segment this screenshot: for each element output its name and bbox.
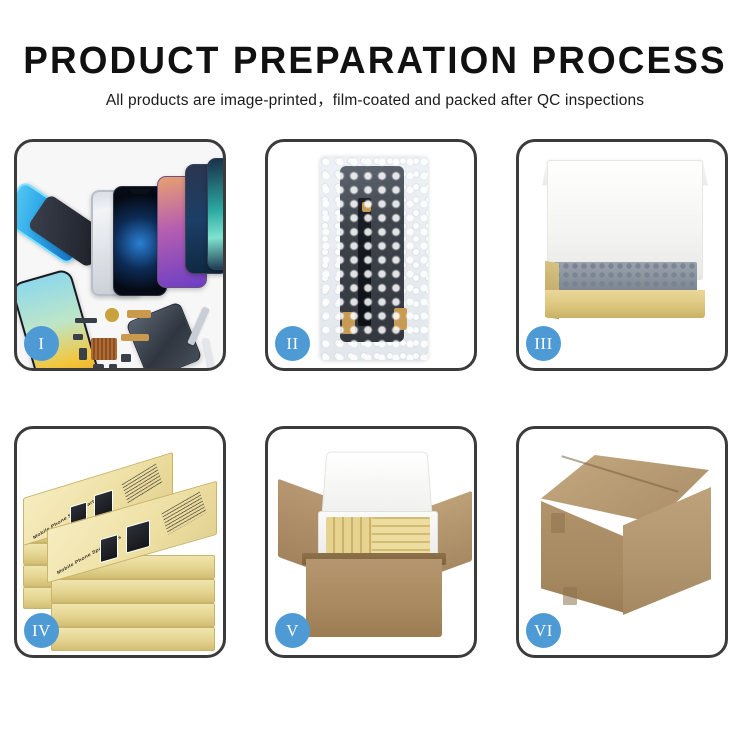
part-copper-shield <box>91 338 117 360</box>
tool-screwdriver <box>202 338 214 368</box>
header: PRODUCT PREPARATION PROCESS All products… <box>0 0 750 111</box>
part-small-chip <box>73 334 83 340</box>
process-step-3[interactable]: III <box>516 139 728 371</box>
box-print-image-front-1 <box>100 534 118 563</box>
process-step-6[interactable]: VI <box>516 426 728 658</box>
part-vibrator <box>121 354 131 362</box>
stack-box-front-3 <box>51 603 215 627</box>
box-print-image-front-2 <box>126 520 150 554</box>
step-badge-4: IV <box>24 613 59 648</box>
box-yellow-front <box>545 290 705 318</box>
yellow-boxes-row-2 <box>372 517 430 557</box>
box-print-text-front <box>161 491 206 534</box>
part-flex-cable-1 <box>127 310 151 318</box>
page-title: PRODUCT PREPARATION PROCESS <box>11 40 739 82</box>
wrapped-tab-right <box>394 308 407 330</box>
part-connector-strip <box>75 318 97 323</box>
step-badge-6: VI <box>526 613 561 648</box>
page-root: PRODUCT PREPARATION PROCESS All products… <box>0 0 750 750</box>
step-badge-3: III <box>526 326 561 361</box>
step-badge-5: V <box>275 613 310 648</box>
phone-screen-teal <box>207 158 223 270</box>
part-screw-bracket-1 <box>79 348 87 360</box>
box-gray-bubble-contents <box>553 262 697 292</box>
wrapped-tab-left <box>342 312 355 334</box>
bubble-wrap-package <box>320 156 428 360</box>
carton-tape-upper <box>551 513 565 533</box>
process-step-5[interactable]: V <box>265 426 477 658</box>
step-badge-2: II <box>275 326 310 361</box>
wrapped-flex-strip <box>358 198 371 326</box>
part-button-flex <box>109 364 117 368</box>
process-grid: I II <box>14 139 736 684</box>
process-step-4[interactable]: Mobile Phone Spare Parts Mobile Phone Sp… <box>14 426 226 658</box>
step-badge-1: I <box>24 326 59 361</box>
phone-notch <box>130 189 150 194</box>
carton-tape-lower <box>563 587 577 605</box>
process-step-1[interactable]: I <box>14 139 226 371</box>
part-flex-cable-2 <box>121 334 149 341</box>
part-camera-module <box>93 364 104 368</box>
styrofoam-lid <box>321 452 432 516</box>
carton-body <box>306 559 442 637</box>
stack-box-front-4 <box>51 627 215 651</box>
process-step-2[interactable]: II <box>265 139 477 371</box>
wrapped-tab-top <box>362 202 371 212</box>
page-subtitle: All products are image-printed，film-coat… <box>0 91 750 111</box>
part-speaker-module <box>105 308 119 322</box>
stack-box-front-2 <box>51 579 215 603</box>
